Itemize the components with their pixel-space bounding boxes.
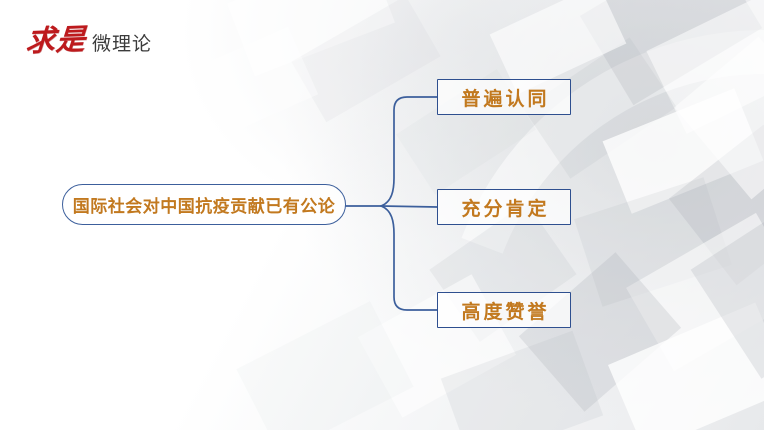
mindmap-branch-node-3[interactable]: 高度赞誉: [437, 292, 571, 328]
connector-branch-2: [381, 206, 437, 207]
brand-logo: 求是 微理论: [26, 26, 152, 55]
slide-canvas: 求是 微理论 国际社会对中国抗疫贡献已有公论 普遍认同 充分肯定 高度赞誉: [0, 0, 764, 430]
connector-branch-3: [381, 206, 437, 310]
mindmap-branch-node-2[interactable]: 充分肯定: [437, 189, 571, 225]
mindmap-root-node[interactable]: 国际社会对中国抗疫贡献已有公论: [62, 184, 346, 225]
mindmap-branch-label-1: 普遍认同: [458, 84, 549, 111]
connector-branch-1: [381, 97, 437, 206]
mindmap-root-label: 国际社会对中国抗疫贡献已有公论: [73, 192, 336, 217]
mindmap-branch-label-3: 高度赞誉: [458, 297, 549, 324]
logo-word-text: 微理论: [92, 35, 152, 54]
mindmap-branch-label-2: 充分肯定: [458, 194, 549, 221]
logo-mark-text: 求是: [25, 25, 87, 56]
mindmap-branch-node-1[interactable]: 普遍认同: [437, 79, 571, 115]
